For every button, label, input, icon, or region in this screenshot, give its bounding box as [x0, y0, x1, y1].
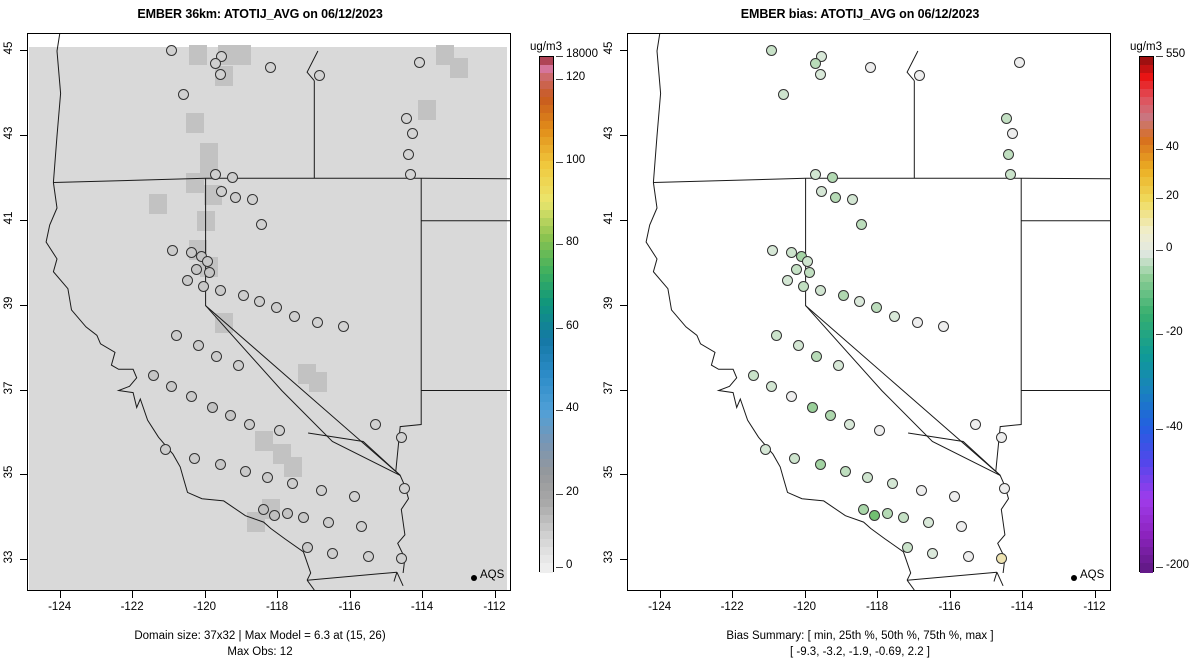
station-marker[interactable]: [202, 256, 213, 267]
model-map-boundaries: [28, 34, 510, 590]
x-axis-tick: [950, 591, 951, 598]
panel-model: EMBER 36km: ATOTIJ_AVG on 06/12/2023 AQS…: [0, 0, 600, 672]
boundary-line: [653, 34, 662, 183]
y-axis-tick: [620, 305, 627, 306]
station-marker[interactable]: [916, 485, 927, 496]
station-marker[interactable]: [810, 58, 821, 69]
station-marker[interactable]: [811, 351, 822, 362]
colorbar-label: -40: [1166, 421, 1183, 433]
y-axis-label: 45: [603, 35, 615, 61]
y-axis-tick: [20, 135, 27, 136]
panel-bias-plot-frame[interactable]: AQS: [627, 33, 1111, 591]
y-axis-label: 35: [3, 459, 15, 485]
colorbar-label: 0: [566, 559, 572, 571]
bias-caption-line2: [ -9.3, -3.2, -1.9, -0.69, 2.2 ]: [600, 646, 1120, 658]
aqs-legend-label: AQS: [480, 569, 504, 581]
station-marker[interactable]: [178, 89, 189, 100]
x-axis-label: -124: [40, 601, 80, 613]
y-axis-label: 33: [603, 544, 615, 570]
station-marker[interactable]: [186, 247, 197, 258]
station-marker[interactable]: [766, 381, 777, 392]
station-marker[interactable]: [949, 491, 960, 502]
x-axis-tick: [350, 591, 351, 598]
station-marker[interactable]: [262, 472, 273, 483]
panel-bias-title: EMBER bias: ATOTIJ_AVG on 06/12/2023: [600, 7, 1120, 21]
station-marker[interactable]: [840, 466, 851, 477]
y-axis-label: 39: [3, 290, 15, 316]
y-axis-label: 37: [603, 375, 615, 401]
station-marker[interactable]: [323, 517, 334, 528]
x-axis-label: -118: [257, 601, 297, 613]
boundary-line: [806, 178, 1001, 475]
boundary-line: [994, 572, 997, 581]
y-axis-label: 41: [3, 205, 15, 231]
colorbar-tick: [1156, 567, 1163, 568]
station-marker[interactable]: [815, 69, 826, 80]
boundary-line: [53, 34, 62, 183]
x-axis-label: -120: [185, 601, 225, 613]
y-axis-label: 37: [3, 375, 15, 401]
boundary-line: [206, 178, 401, 475]
station-marker[interactable]: [258, 504, 269, 515]
colorbar-label: 120: [566, 71, 585, 83]
y-axis-tick: [620, 390, 627, 391]
station-marker[interactable]: [230, 192, 241, 203]
boundary-line: [307, 572, 397, 580]
station-marker[interactable]: [356, 521, 367, 532]
station-marker[interactable]: [838, 290, 849, 301]
station-marker[interactable]: [407, 128, 418, 139]
model-caption-line1: Domain size: 37x32 | Max Model = 6.3 at …: [0, 630, 520, 642]
station-marker[interactable]: [882, 508, 893, 519]
station-marker[interactable]: [166, 381, 177, 392]
colorbar-label: 100: [566, 154, 585, 166]
station-marker[interactable]: [148, 370, 159, 381]
y-axis-tick: [20, 50, 27, 51]
station-marker[interactable]: [1007, 128, 1018, 139]
station-marker[interactable]: [802, 256, 813, 267]
x-axis-tick: [422, 591, 423, 598]
y-axis-tick: [620, 220, 627, 221]
x-axis-label: -116: [930, 601, 970, 613]
boundary-line: [307, 580, 314, 590]
x-axis-label: -112: [475, 601, 515, 613]
colorbar-label: 20: [566, 486, 579, 498]
station-marker[interactable]: [858, 504, 869, 515]
x-axis-tick: [277, 591, 278, 598]
y-axis-tick: [20, 559, 27, 560]
station-marker[interactable]: [1005, 169, 1016, 180]
y-axis-label: 33: [3, 544, 15, 570]
colorbar-label: 60: [566, 320, 579, 332]
station-marker[interactable]: [186, 391, 197, 402]
station-marker[interactable]: [865, 62, 876, 73]
x-axis-tick: [1095, 591, 1096, 598]
station-marker[interactable]: [782, 275, 793, 286]
station-marker[interactable]: [786, 247, 797, 258]
panel-bias: EMBER bias: ATOTIJ_AVG on 06/12/2023 AQS…: [600, 0, 1200, 672]
y-axis-tick: [620, 50, 627, 51]
y-axis-label: 43: [3, 120, 15, 146]
station-marker[interactable]: [210, 169, 221, 180]
x-axis-tick: [805, 591, 806, 598]
colorbar-label: -20: [1166, 326, 1183, 338]
station-marker[interactable]: [244, 419, 255, 430]
station-marker[interactable]: [302, 542, 313, 553]
station-marker[interactable]: [316, 485, 327, 496]
bias-colorbar-unit: ug/m3: [1130, 41, 1162, 53]
bias-caption-line1: Bias Summary: [ min, 25th %, 50th %, 75t…: [600, 630, 1120, 642]
station-marker[interactable]: [902, 542, 913, 553]
boundary-line: [53, 178, 205, 182]
y-axis-label: 45: [3, 35, 15, 61]
colorbar-label: 80: [566, 236, 579, 248]
x-axis-tick: [60, 591, 61, 598]
aqs-legend-dot: [1071, 575, 1077, 581]
colorbar-tick: [1156, 250, 1163, 251]
station-marker[interactable]: [999, 483, 1010, 494]
colorbar-tick: [556, 244, 563, 245]
colorbar-label: 40: [1166, 141, 1179, 153]
aqs-legend-dot: [471, 575, 477, 581]
colorbar-label: 0: [1166, 242, 1172, 254]
station-marker[interactable]: [771, 330, 782, 341]
x-axis-tick: [732, 591, 733, 598]
x-axis-label: -120: [785, 601, 825, 613]
x-axis-label: -112: [1075, 601, 1115, 613]
station-marker[interactable]: [815, 459, 826, 470]
boundary-line: [997, 572, 1003, 586]
station-marker[interactable]: [233, 360, 244, 371]
x-axis-tick: [205, 591, 206, 598]
colorbar-label: -200: [1166, 559, 1189, 571]
colorbar-tick: [1156, 334, 1163, 335]
colorbar-tick: [556, 410, 563, 411]
y-axis-tick: [620, 474, 627, 475]
station-marker[interactable]: [871, 302, 882, 313]
boundary-line: [394, 572, 397, 581]
colorbar-tick: [1156, 198, 1163, 199]
station-marker[interactable]: [210, 58, 221, 69]
station-marker[interactable]: [996, 553, 1007, 564]
boundary-line: [653, 178, 805, 182]
x-axis-tick: [660, 591, 661, 598]
station-marker[interactable]: [289, 311, 300, 322]
model-caption-line2: Max Obs: 12: [0, 646, 520, 658]
boundary-line: [907, 580, 914, 590]
colorbar-tick: [1156, 429, 1163, 430]
station-marker[interactable]: [786, 391, 797, 402]
boundary-line: [646, 183, 911, 581]
station-marker[interactable]: [216, 186, 227, 197]
station-marker[interactable]: [963, 551, 974, 562]
station-marker[interactable]: [778, 89, 789, 100]
station-marker[interactable]: [889, 311, 900, 322]
bias-colorbar: [1139, 56, 1154, 572]
y-axis-tick: [620, 135, 627, 136]
colorbar-tick: [556, 162, 563, 163]
y-axis-label: 39: [603, 290, 615, 316]
station-marker[interactable]: [171, 330, 182, 341]
y-axis-tick: [20, 305, 27, 306]
station-marker[interactable]: [215, 459, 226, 470]
x-axis-label: -122: [712, 601, 752, 613]
colorbar-label: 20: [1166, 190, 1179, 202]
station-marker[interactable]: [399, 483, 410, 494]
station-marker[interactable]: [396, 432, 407, 443]
x-axis-label: -122: [112, 601, 152, 613]
station-marker[interactable]: [215, 69, 226, 80]
boundary-line: [46, 183, 311, 581]
station-marker[interactable]: [830, 192, 841, 203]
x-axis-tick: [132, 591, 133, 598]
y-axis-label: 43: [603, 120, 615, 146]
station-marker[interactable]: [405, 169, 416, 180]
colorbar-segment: [1140, 563, 1153, 573]
colorbar-tick: [556, 494, 563, 495]
station-marker[interactable]: [240, 466, 251, 477]
colorbar-tick: [556, 79, 563, 80]
x-axis-label: -116: [330, 601, 370, 613]
station-marker[interactable]: [791, 264, 802, 275]
station-marker[interactable]: [996, 432, 1007, 443]
colorbar-label: 550: [1166, 48, 1185, 60]
station-marker[interactable]: [282, 508, 293, 519]
station-marker[interactable]: [211, 351, 222, 362]
boundary-line: [907, 572, 997, 580]
station-marker[interactable]: [265, 62, 276, 73]
station-marker[interactable]: [923, 517, 934, 528]
station-marker[interactable]: [862, 472, 873, 483]
station-marker[interactable]: [182, 275, 193, 286]
y-axis-tick: [20, 474, 27, 475]
y-axis-label: 35: [603, 459, 615, 485]
y-axis-tick: [20, 220, 27, 221]
station-marker[interactable]: [271, 302, 282, 313]
x-axis-tick: [877, 591, 878, 598]
station-marker[interactable]: [396, 553, 407, 564]
bias-map-boundaries: [628, 34, 1110, 590]
station-marker[interactable]: [349, 491, 360, 502]
colorbar-segment: [540, 563, 553, 573]
x-axis-tick: [1022, 591, 1023, 598]
boundary-line: [396, 178, 421, 573]
x-axis-label: -124: [640, 601, 680, 613]
x-axis-label: -114: [1002, 601, 1042, 613]
station-marker[interactable]: [191, 264, 202, 275]
model-colorbar-unit: ug/m3: [530, 41, 562, 53]
colorbar-tick: [556, 56, 563, 57]
station-marker[interactable]: [748, 370, 759, 381]
station-marker[interactable]: [815, 285, 826, 296]
aqs-legend-label: AQS: [1080, 569, 1104, 581]
station-marker[interactable]: [833, 360, 844, 371]
x-axis-label: -114: [402, 601, 442, 613]
panel-model-title: EMBER 36km: ATOTIJ_AVG on 06/12/2023: [0, 7, 520, 21]
y-axis-label: 41: [603, 205, 615, 231]
panel-model-plot-frame[interactable]: AQS: [27, 33, 511, 591]
x-axis-label: -118: [857, 601, 897, 613]
station-marker[interactable]: [238, 290, 249, 301]
y-axis-tick: [620, 559, 627, 560]
colorbar-tick: [556, 328, 563, 329]
y-axis-tick: [20, 390, 27, 391]
colorbar-tick: [1156, 149, 1163, 150]
colorbar-label: 18000: [566, 48, 598, 60]
colorbar-label: 40: [566, 402, 579, 414]
station-marker[interactable]: [844, 419, 855, 430]
station-marker[interactable]: [363, 551, 374, 562]
boundary-line: [996, 178, 1021, 573]
station-marker[interactable]: [956, 521, 967, 532]
boundary-line: [397, 572, 403, 586]
model-colorbar: [539, 56, 554, 572]
station-marker[interactable]: [810, 169, 821, 180]
colorbar-tick: [1156, 56, 1163, 57]
station-marker[interactable]: [215, 285, 226, 296]
x-axis-tick: [495, 591, 496, 598]
station-marker[interactable]: [816, 186, 827, 197]
colorbar-tick: [556, 567, 563, 568]
